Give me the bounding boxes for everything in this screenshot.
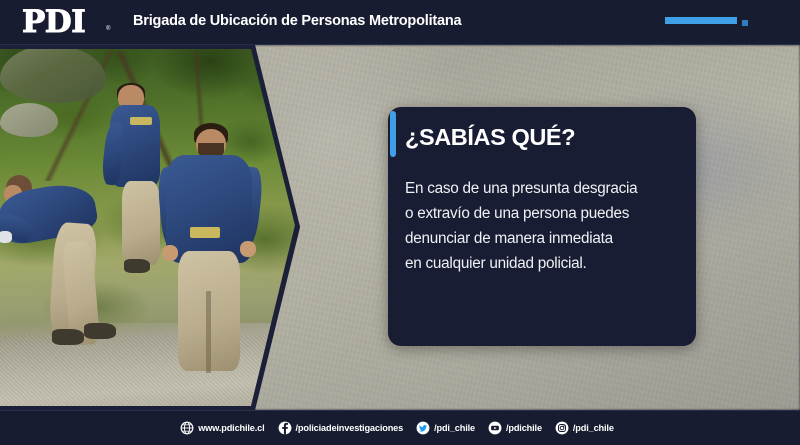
officer-three-hand-right <box>240 241 256 257</box>
panel-body-line: en cualquier unidad policial. <box>405 251 673 276</box>
header-accent-dot <box>742 20 748 26</box>
website-label: www.pdichile.cl <box>198 423 264 433</box>
youtube-link[interactable]: /pdichile <box>488 421 542 435</box>
social-links-row: www.pdichile.cl /policiadeinvestigacione… <box>0 410 800 445</box>
officer-three-hand-left <box>162 245 178 261</box>
youtube-icon <box>488 421 502 435</box>
header-accent-bar <box>665 17 737 24</box>
panel-body-text: En caso de una presunta desgracia o extr… <box>405 176 673 276</box>
page-title: Brigada de Ubicación de Personas Metropo… <box>133 13 461 29</box>
instagram-icon <box>555 421 569 435</box>
facebook-link[interactable]: /policiadeinvestigaciones <box>278 421 404 435</box>
instagram-link[interactable]: /pdi_chile <box>555 421 614 435</box>
officer-one-boot-right <box>84 323 116 339</box>
twitter-link[interactable]: /pdi_chile <box>416 421 475 435</box>
header-divider <box>0 44 800 45</box>
officer-one-glove <box>0 231 12 243</box>
officer-three-jacket-emblem <box>190 227 220 238</box>
pdi-logo: PDI <box>22 5 114 40</box>
twitter-icon <box>416 421 430 435</box>
panel-heading: ¿SABÍAS QUÉ? <box>405 124 575 151</box>
officer-three-leg-separation <box>206 291 211 373</box>
officer-two-boot <box>124 259 150 273</box>
officer-one-boot-left <box>52 329 84 345</box>
registered-trademark-icon: ® <box>106 26 110 32</box>
panel-body-line: denunciar de manera inmediata <box>405 226 673 251</box>
twitter-label: /pdi_chile <box>434 423 475 433</box>
officer-two-jacket-emblem <box>130 117 152 125</box>
instagram-label: /pdi_chile <box>573 423 614 433</box>
facebook-label: /policiadeinvestigaciones <box>296 423 404 433</box>
website-link[interactable]: www.pdichile.cl <box>180 421 264 435</box>
pdi-awareness-poster: ¿SABÍAS QUÉ? En caso de una presunta des… <box>0 0 800 445</box>
officer-two-pants <box>122 181 160 265</box>
trail-rock <box>0 103 58 137</box>
panel-body-line: o extravío de una persona puedes <box>405 201 673 226</box>
panel-accent-bar <box>390 111 396 157</box>
globe-icon <box>180 421 194 435</box>
youtube-label: /pdichile <box>506 423 542 433</box>
panel-body-line: En caso de una presunta desgracia <box>405 176 673 201</box>
header-bar: PDI ® Brigada de Ubicación de Personas M… <box>0 0 800 45</box>
facebook-icon <box>278 421 292 435</box>
